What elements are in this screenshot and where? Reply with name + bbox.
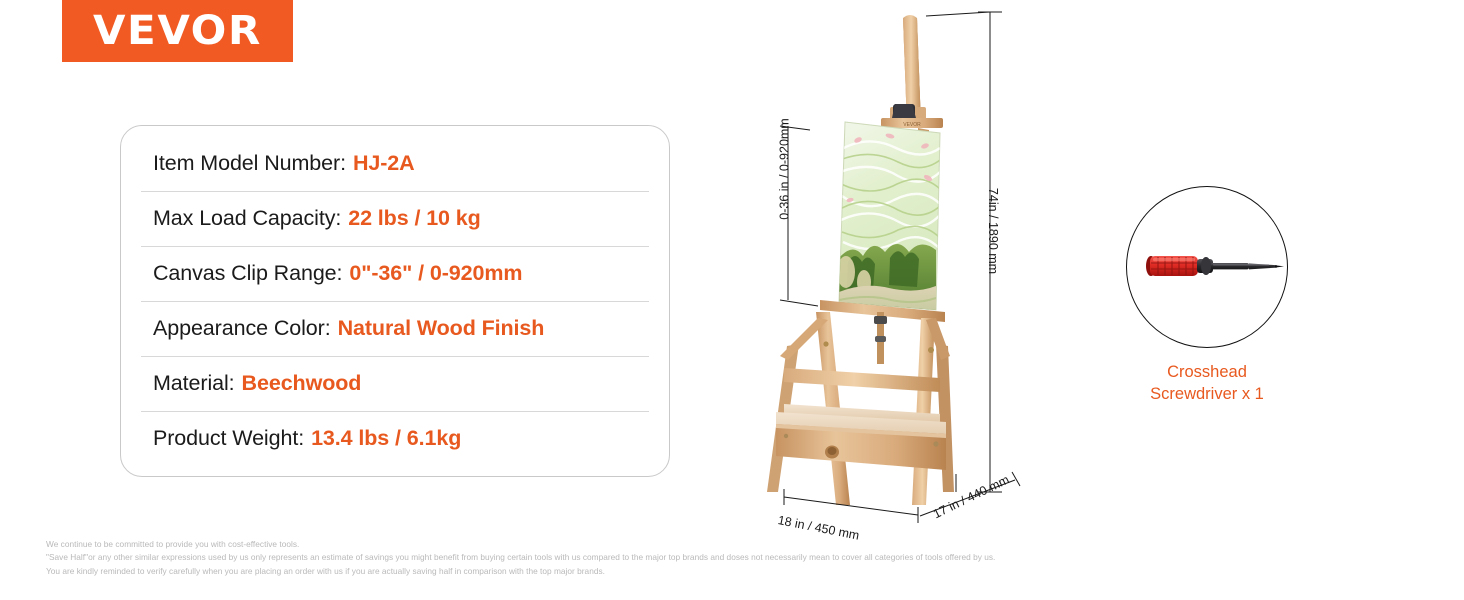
spec-label: Material:	[153, 371, 235, 396]
spec-row-item-model-number: Item Model Number: HJ-2A	[121, 136, 669, 191]
spec-label: Max Load Capacity:	[153, 206, 341, 231]
accessory-caption-line2: Screwdriver x 1	[1122, 384, 1292, 406]
vevor-wordmark: VEVOR	[93, 8, 262, 54]
storage-drawer	[776, 404, 946, 470]
spec-value: 22 lbs / 10 kg	[348, 206, 480, 231]
spec-row-appearance-color: Appearance Color: Natural Wood Finish	[121, 301, 669, 356]
dim-label-canvas-clip-range: 0-36 in / 0-920mm	[778, 118, 792, 219]
spec-row-max-load-capacity: Max Load Capacity: 22 lbs / 10 kg	[121, 191, 669, 246]
canvas-painting	[837, 122, 941, 312]
spec-label: Product Weight:	[153, 426, 304, 451]
disclaimer-line-3: You are kindly reminded to verify carefu…	[46, 565, 1346, 578]
disclaimer-line-1: We continue to be committed to provide y…	[46, 538, 1346, 551]
product-spec-banner: VEVOR Item Model Number: HJ-2A Max Load …	[0, 0, 1464, 600]
spec-row-product-weight: Product Weight: 13.4 lbs / 6.1kg	[121, 411, 669, 466]
crossbar	[784, 368, 940, 392]
disclaimer-line-2: "Save Half"or any other similar expressi…	[46, 551, 1346, 564]
spec-label: Appearance Color:	[153, 316, 331, 341]
dim-label-total-height: 74in / 1890 mm	[986, 188, 1000, 274]
adjust-rod	[874, 312, 887, 364]
accessory-caption-line1: Crosshead	[1122, 362, 1292, 384]
accessory-callout: Crosshead Screwdriver x 1	[1122, 186, 1292, 406]
vevor-logo: VEVOR	[62, 0, 293, 62]
spec-row-material: Material: Beechwood	[121, 356, 669, 411]
spec-value: Beechwood	[242, 371, 362, 396]
footer-disclaimer: We continue to be committed to provide y…	[46, 538, 1346, 578]
spec-label: Item Model Number:	[153, 151, 346, 176]
canvas-clip-bracket: VEVOR	[881, 104, 943, 128]
easel-illustration: VEVOR	[740, 0, 1060, 545]
svg-text:VEVOR: VEVOR	[903, 122, 921, 128]
spec-value: 13.4 lbs / 6.1kg	[311, 426, 461, 451]
spec-value: Natural Wood Finish	[338, 316, 545, 341]
spec-value: HJ-2A	[353, 151, 415, 176]
spec-label: Canvas Clip Range:	[153, 261, 342, 286]
accessory-caption: Crosshead Screwdriver x 1	[1122, 362, 1292, 406]
crosshead-screwdriver-icon	[1127, 187, 1288, 348]
accessory-circle-frame	[1126, 186, 1288, 348]
specification-card: Item Model Number: HJ-2A Max Load Capaci…	[120, 125, 670, 477]
spec-row-canvas-clip-range: Canvas Clip Range: 0"-36" / 0-920mm	[121, 246, 669, 301]
spec-value: 0"-36" / 0-920mm	[349, 261, 522, 286]
leg-front-right	[912, 318, 935, 505]
product-figure: VEVOR	[740, 0, 1060, 545]
